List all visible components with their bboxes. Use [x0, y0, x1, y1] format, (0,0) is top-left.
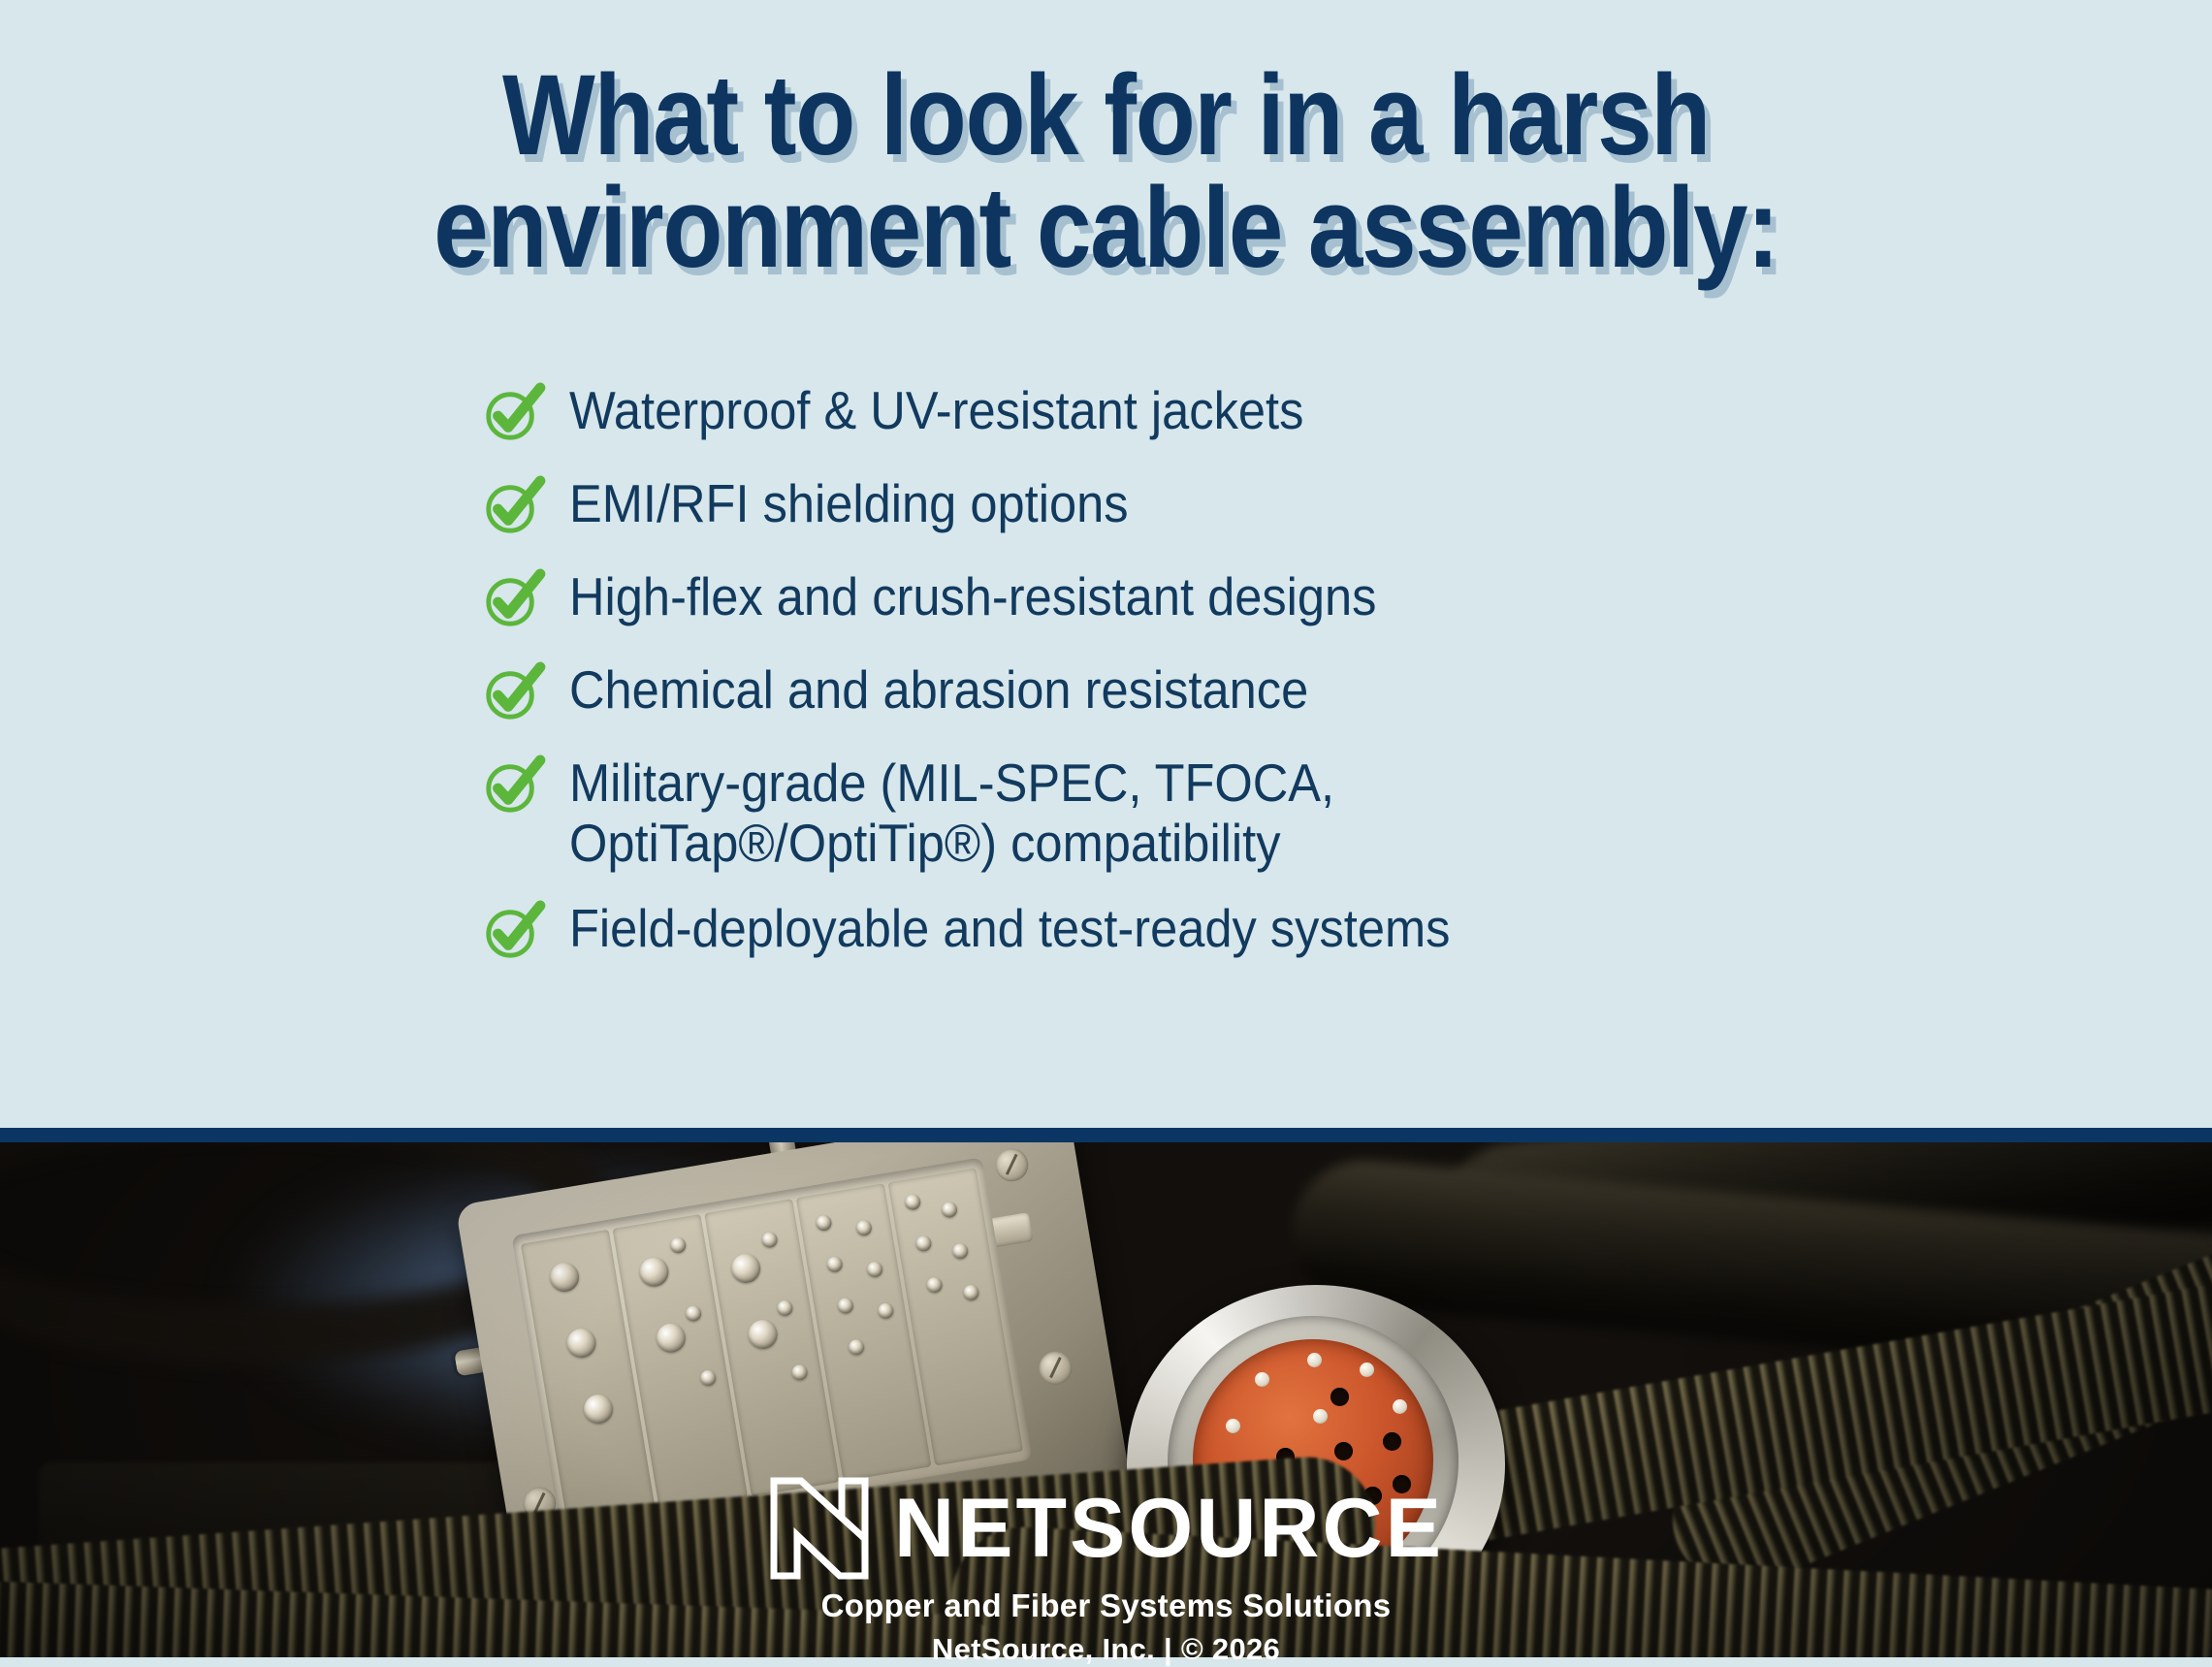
copyright-notice: NetSource, Inc. | © 2026 [932, 1632, 1280, 1667]
check-circle-icon [482, 570, 542, 630]
feature-checklist: Waterproof & UV-resistant jackets EMI/RF… [482, 380, 1937, 962]
list-item-label: Field-deployable and test-ready systems [569, 898, 1450, 958]
list-item-label: Military-grade (MIL-SPEC, TFOCA, OptiTap… [569, 753, 1334, 873]
brand-tagline: Copper and Fiber Systems Solutions [821, 1587, 1392, 1624]
logo-lockup: NETSOURCE [768, 1475, 1444, 1582]
check-circle-icon [482, 756, 542, 817]
list-item-label: EMI/RFI shielding options [569, 473, 1129, 533]
list-item: Chemical and abrasion resistance [482, 659, 1937, 723]
list-item-label: Chemical and abrasion resistance [569, 659, 1308, 720]
brand-wordmark: NETSOURCE [894, 1487, 1444, 1570]
page-title: What to look for in a harsh environment … [155, 60, 2058, 284]
list-item: Field-deployable and test-ready systems [482, 898, 1937, 962]
list-item: Military-grade (MIL-SPEC, TFOCA, OptiTap… [482, 753, 1937, 873]
netsource-n-monogram-icon [768, 1475, 873, 1582]
check-circle-icon [482, 384, 542, 444]
brand-footer: NETSOURCE Copper and Fiber Systems Solut… [0, 1475, 2212, 1667]
check-circle-icon [482, 902, 542, 962]
check-circle-icon [482, 477, 542, 537]
check-circle-icon [482, 663, 542, 723]
list-item: EMI/RFI shielding options [482, 473, 1937, 537]
list-item: High-flex and crush-resistant designs [482, 566, 1937, 630]
section-divider [0, 1128, 2212, 1142]
list-item-label: High-flex and crush-resistant designs [569, 566, 1376, 626]
content-panel: What to look for in a harsh environment … [0, 0, 2212, 1128]
list-item: Waterproof & UV-resistant jackets [482, 380, 1937, 444]
list-item-label: Waterproof & UV-resistant jackets [569, 380, 1303, 440]
